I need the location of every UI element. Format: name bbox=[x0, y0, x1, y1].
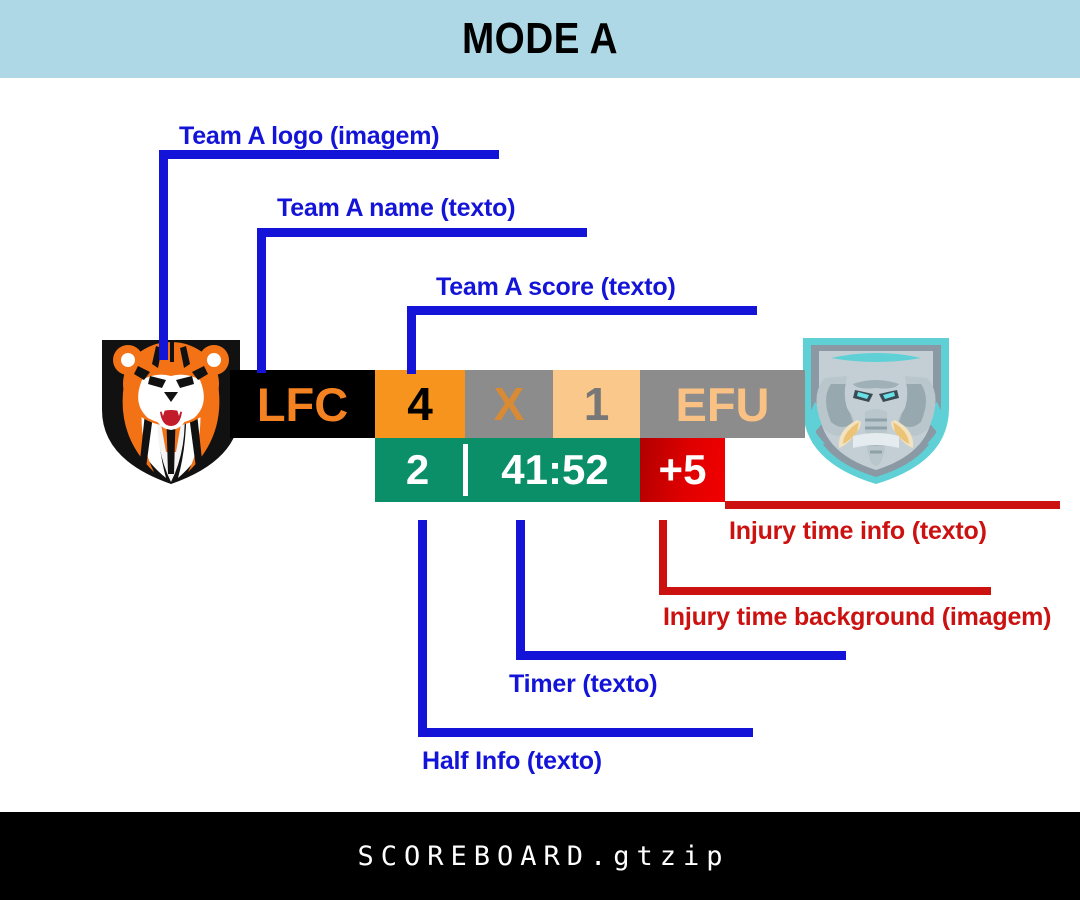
footer-brand-text: SCOREBOARD.gtzip bbox=[0, 812, 1080, 900]
leader-line-team-a-score bbox=[407, 306, 757, 378]
annotation-label-team-a-score: Team A score (texto) bbox=[436, 273, 676, 302]
team-a-score-text: 4 bbox=[375, 370, 465, 438]
leader-line-half-info bbox=[418, 520, 753, 737]
versus-separator: X bbox=[465, 370, 553, 438]
team-a-name-text: LFC bbox=[230, 370, 375, 438]
team-b-logo-image bbox=[795, 332, 957, 487]
page-title: MODE A bbox=[65, 0, 1015, 78]
half-info-text: 2 bbox=[375, 438, 460, 502]
injury-time-text: +5 bbox=[640, 438, 725, 502]
timer-text: 41:52 bbox=[470, 438, 640, 502]
score-row: LFC 4 X 1 EFU bbox=[230, 370, 805, 438]
annotation-label-team-a-name: Team A name (texto) bbox=[277, 194, 515, 223]
leader-line-injury-time-info bbox=[725, 501, 1060, 509]
team-b-score-text: 1 bbox=[553, 370, 640, 438]
timer-row: 2 41:52 +5 bbox=[375, 438, 725, 502]
timer-divider bbox=[460, 438, 470, 502]
team-b-name-text: EFU bbox=[640, 370, 805, 438]
annotation-label-team-a-logo: Team A logo (imagem) bbox=[179, 122, 439, 151]
annotation-label-half-info: Half Info (texto) bbox=[422, 747, 602, 776]
